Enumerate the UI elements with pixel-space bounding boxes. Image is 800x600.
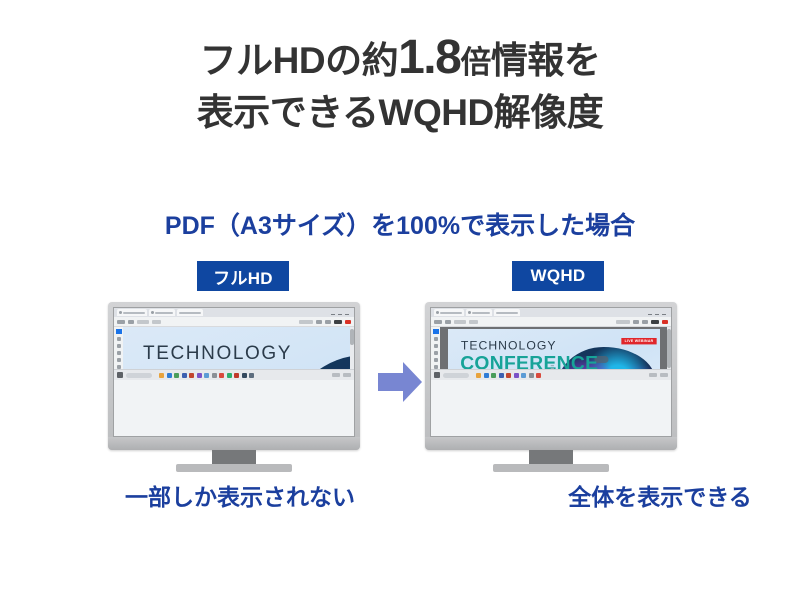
- clock-readout[interactable]: [649, 373, 657, 377]
- app-icon-pdf[interactable]: [536, 373, 541, 378]
- print-icon[interactable]: [633, 320, 639, 324]
- browser-tab[interactable]: [117, 309, 147, 316]
- app-icon-settings[interactable]: [212, 373, 217, 378]
- forward-icon[interactable]: [445, 320, 451, 324]
- poster-content: LIVE WEBINAR TECHNOLOGY CONFERENCE 2025: [448, 329, 660, 369]
- arrow-head: [403, 362, 422, 402]
- favicon-icon: [119, 311, 122, 314]
- app-icon-excel[interactable]: [174, 373, 179, 378]
- minimize-icon[interactable]: [648, 314, 652, 315]
- badge-full-hd: フルHD: [197, 261, 289, 291]
- close-icon[interactable]: [345, 314, 349, 315]
- arrow-right-icon: [378, 362, 422, 402]
- forward-icon[interactable]: [128, 320, 134, 324]
- poster-content: LIVE WEBINAR TECHNOLOGY CONFERENCE 2025: [123, 327, 354, 369]
- favicon-icon: [151, 311, 154, 314]
- slide-canvas: フルHDの約1.8倍情報を 表示できるWQHD解像度 PDF（A3サイズ）を10…: [0, 0, 800, 600]
- app-icon-outlook[interactable]: [204, 373, 209, 378]
- headline-unit: 倍: [460, 45, 491, 80]
- tab-title-placeholder: [440, 312, 462, 314]
- taskbar-system-tray[interactable]: [649, 373, 668, 377]
- pdf-canvas[interactable]: LIVE WEBINAR TECHNOLOGY CONFERENCE 2025: [123, 327, 354, 369]
- pdf-sidebar[interactable]: [114, 327, 123, 369]
- app-icon-settings[interactable]: [529, 373, 534, 378]
- windows-taskbar[interactable]: [114, 369, 354, 380]
- live-webinar-badge: LIVE WEBINAR: [621, 338, 656, 344]
- page-thumbnail[interactable]: [433, 329, 439, 334]
- app-icon-terminal[interactable]: [242, 373, 247, 378]
- app-icon-excel[interactable]: [491, 373, 496, 378]
- minimize-icon[interactable]: [331, 314, 335, 315]
- address-bar[interactable]: [137, 320, 149, 324]
- back-icon[interactable]: [434, 320, 442, 324]
- attachment-icon[interactable]: [117, 365, 121, 369]
- tab-title-placeholder: [123, 312, 145, 314]
- headline-line-2: 表示できるWQHD解像度: [0, 90, 800, 136]
- back-icon[interactable]: [117, 320, 125, 324]
- subtitle: PDF（A3サイズ）を100%で表示した場合: [0, 206, 800, 242]
- maximize-icon[interactable]: [338, 314, 342, 315]
- search-icon[interactable]: [434, 344, 438, 348]
- app-icon-teams[interactable]: [514, 373, 519, 378]
- monitor-screen: LIVE WEBINAR TECHNOLOGY CONFERENCE 2025: [430, 307, 672, 437]
- browser-tab[interactable]: [177, 309, 203, 316]
- close-icon[interactable]: [662, 314, 666, 315]
- browser-toolbar[interactable]: [114, 317, 354, 327]
- taskbar-pinned-apps[interactable]: [476, 373, 541, 378]
- bookmark-icon[interactable]: [117, 337, 121, 341]
- address-bar[interactable]: [454, 320, 466, 324]
- tray-icons[interactable]: [660, 373, 668, 377]
- poster-tick-marks: [551, 365, 554, 369]
- window-controls[interactable]: [331, 311, 351, 315]
- app-icon-pdf[interactable]: [219, 373, 224, 378]
- monitor-stand-neck: [212, 450, 256, 464]
- app-icon-powerpoint[interactable]: [189, 373, 194, 378]
- app-icon-edge[interactable]: [484, 373, 489, 378]
- tab-title-placeholder: [496, 312, 518, 314]
- attachment-icon[interactable]: [434, 365, 438, 369]
- app-icon-outlook[interactable]: [521, 373, 526, 378]
- browser-chrome: [431, 308, 671, 327]
- favicon-icon: [436, 311, 439, 314]
- app-icon-powerpoint[interactable]: [506, 373, 511, 378]
- monitor-bezel-chin: [108, 437, 360, 450]
- poster-conference: CONFERENCE: [460, 353, 598, 369]
- clock-readout[interactable]: [332, 373, 340, 377]
- app-icon-media[interactable]: [234, 373, 239, 378]
- start-button-icon[interactable]: [434, 372, 440, 378]
- tray-icons[interactable]: [343, 373, 351, 377]
- browser-tab-strip[interactable]: [114, 308, 354, 317]
- download-icon[interactable]: [642, 320, 648, 324]
- monitor-bezel: LIVE WEBINAR TECHNOLOGY CONFERENCE 2025: [425, 302, 677, 450]
- app-icon-store[interactable]: [227, 373, 232, 378]
- pdf-app-icon[interactable]: [345, 320, 351, 324]
- browser-tab[interactable]: [434, 309, 464, 316]
- tick-mark: [551, 368, 554, 369]
- tick-mark: [551, 365, 554, 366]
- maximize-icon[interactable]: [655, 314, 659, 315]
- pdf-app-icon[interactable]: [662, 320, 668, 324]
- browser-tab[interactable]: [494, 309, 520, 316]
- pdf-viewer: LIVE WEBINAR TECHNOLOGY CONFERENCE 2025: [431, 327, 671, 369]
- page-thumbnail[interactable]: [116, 329, 122, 334]
- zoom-control[interactable]: [152, 320, 161, 324]
- monitor-bezel: LIVE WEBINAR TECHNOLOGY CONFERENCE 2025: [108, 302, 360, 450]
- monitor-full-hd: LIVE WEBINAR TECHNOLOGY CONFERENCE 2025: [108, 302, 360, 450]
- monitor-stand-neck: [529, 450, 573, 464]
- comment-icon[interactable]: [434, 351, 438, 355]
- windows-taskbar[interactable]: [431, 369, 671, 380]
- caption-wqhd: 全体を表示できる: [400, 478, 800, 512]
- app-icon-misc[interactable]: [249, 373, 254, 378]
- browser-tab[interactable]: [466, 309, 492, 316]
- taskbar-system-tray[interactable]: [332, 373, 351, 377]
- tab-title-placeholder: [472, 312, 490, 314]
- arrow-shaft: [378, 373, 405, 391]
- app-icon-word[interactable]: [499, 373, 504, 378]
- taskbar-search-box[interactable]: [126, 373, 152, 378]
- vertical-scrollbar[interactable]: [350, 327, 354, 369]
- pdf-page-field[interactable]: [616, 320, 630, 324]
- bookmark-icon[interactable]: [434, 337, 438, 341]
- poster-title: TECHNOLOGY: [461, 339, 557, 353]
- scrollbar-thumb[interactable]: [350, 329, 354, 345]
- browser-toolbar[interactable]: [431, 317, 671, 327]
- pdf-document-page: LIVE WEBINAR TECHNOLOGY CONFERENCE 2025: [123, 327, 354, 369]
- headline-emphasis-number: 1.8: [398, 31, 460, 84]
- tab-title-placeholder: [179, 312, 201, 314]
- poster-conference: CONFERENCE: [142, 364, 354, 369]
- headline-text-1: フルHDの約: [200, 40, 398, 81]
- tab-title-placeholder: [155, 312, 173, 314]
- monitor-wqhd: LIVE WEBINAR TECHNOLOGY CONFERENCE 2025: [425, 302, 677, 450]
- monitor-bezel-chin: [425, 437, 677, 450]
- pdf-canvas[interactable]: LIVE WEBINAR TECHNOLOGY CONFERENCE 2025: [440, 327, 671, 369]
- monitor-screen: LIVE WEBINAR TECHNOLOGY CONFERENCE 2025: [113, 307, 355, 437]
- headline-text-2: 情報を: [491, 40, 601, 81]
- app-icon-explorer[interactable]: [476, 373, 481, 378]
- pdf-document-page: LIVE WEBINAR TECHNOLOGY CONFERENCE 2025: [448, 329, 660, 369]
- app-icon-word[interactable]: [182, 373, 187, 378]
- taskbar-pinned-apps[interactable]: [159, 373, 254, 378]
- browser-tab-strip[interactable]: [431, 308, 671, 317]
- search-icon[interactable]: [117, 344, 121, 348]
- taskbar-search-box[interactable]: [443, 373, 469, 378]
- print-icon[interactable]: [316, 320, 322, 324]
- poster-title: TECHNOLOGY: [143, 343, 292, 365]
- fit-page-icon[interactable]: [651, 320, 659, 324]
- comment-icon[interactable]: [117, 351, 121, 355]
- browser-chrome: [114, 308, 354, 327]
- zoom-control[interactable]: [469, 320, 478, 324]
- pdf-page-field[interactable]: [299, 320, 313, 324]
- start-button-icon[interactable]: [117, 372, 123, 378]
- badge-wqhd: WQHD: [512, 261, 604, 291]
- window-controls[interactable]: [648, 311, 668, 315]
- favicon-icon: [468, 311, 471, 314]
- browser-tab[interactable]: [149, 309, 175, 316]
- app-icon-explorer[interactable]: [159, 373, 164, 378]
- download-icon[interactable]: [325, 320, 331, 324]
- page-title: フルHDの約1.8倍情報を 表示できるWQHD解像度: [0, 34, 800, 136]
- app-icon-teams[interactable]: [197, 373, 202, 378]
- pdf-viewer: LIVE WEBINAR TECHNOLOGY CONFERENCE 2025: [114, 327, 354, 369]
- scrollbar-thumb[interactable]: [667, 329, 671, 368]
- app-icon-edge[interactable]: [167, 373, 172, 378]
- signature-icon[interactable]: [117, 358, 121, 362]
- vertical-scrollbar[interactable]: [667, 327, 671, 369]
- fit-page-icon[interactable]: [334, 320, 342, 324]
- pdf-sidebar[interactable]: [431, 327, 440, 369]
- monitor-stand-base: [493, 464, 609, 472]
- monitor-stand-base: [176, 464, 292, 472]
- signature-icon[interactable]: [434, 358, 438, 362]
